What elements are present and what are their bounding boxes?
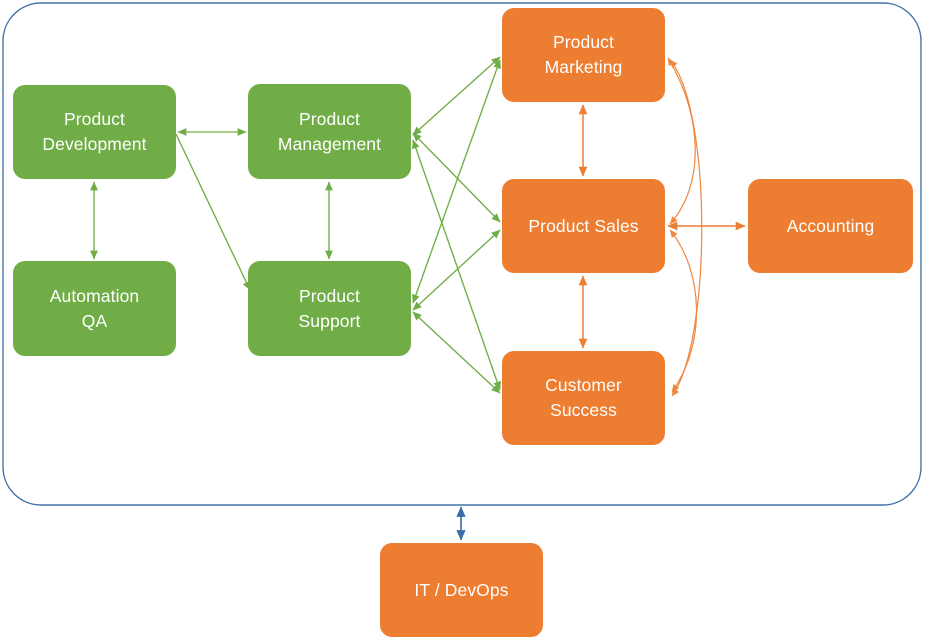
node-product-management[interactable]: Product Management bbox=[248, 84, 411, 179]
node-product-marketing[interactable]: Product Marketing bbox=[502, 8, 665, 102]
node-label: IT / DevOps bbox=[414, 578, 508, 603]
connector-management-customersuccess bbox=[413, 140, 500, 390]
node-product-support[interactable]: Product Support bbox=[248, 261, 411, 356]
node-label: Customer Success bbox=[545, 373, 622, 423]
node-product-sales[interactable]: Product Sales bbox=[502, 179, 665, 273]
node-label: Product Support bbox=[299, 284, 361, 334]
node-accounting[interactable]: Accounting bbox=[748, 179, 913, 273]
connector-sales-customersuccess-curve bbox=[670, 230, 697, 392]
node-product-development[interactable]: Product Development bbox=[13, 85, 176, 179]
node-label: Product Sales bbox=[528, 214, 638, 239]
connector-management-sales bbox=[413, 133, 500, 222]
connector-support-marketing bbox=[413, 60, 500, 303]
node-label: Product Marketing bbox=[545, 30, 623, 80]
connector-marketing-sales-curve bbox=[668, 58, 695, 224]
node-customer-success[interactable]: Customer Success bbox=[502, 351, 665, 445]
connector-support-customersuccess bbox=[413, 312, 500, 393]
node-label: Product Development bbox=[42, 107, 146, 157]
node-label: Automation QA bbox=[50, 284, 140, 334]
node-it-devops[interactable]: IT / DevOps bbox=[380, 543, 543, 637]
node-automation-qa[interactable]: Automation QA bbox=[13, 261, 176, 356]
connector-marketing-customersuccess-curve bbox=[670, 60, 702, 396]
connector-development-support bbox=[176, 134, 250, 290]
connector-management-marketing bbox=[413, 57, 500, 135]
node-label: Accounting bbox=[787, 214, 875, 239]
node-label: Product Management bbox=[278, 107, 381, 157]
diagram-canvas: Product Development Product Management A… bbox=[0, 0, 925, 637]
connector-support-sales bbox=[413, 230, 500, 310]
